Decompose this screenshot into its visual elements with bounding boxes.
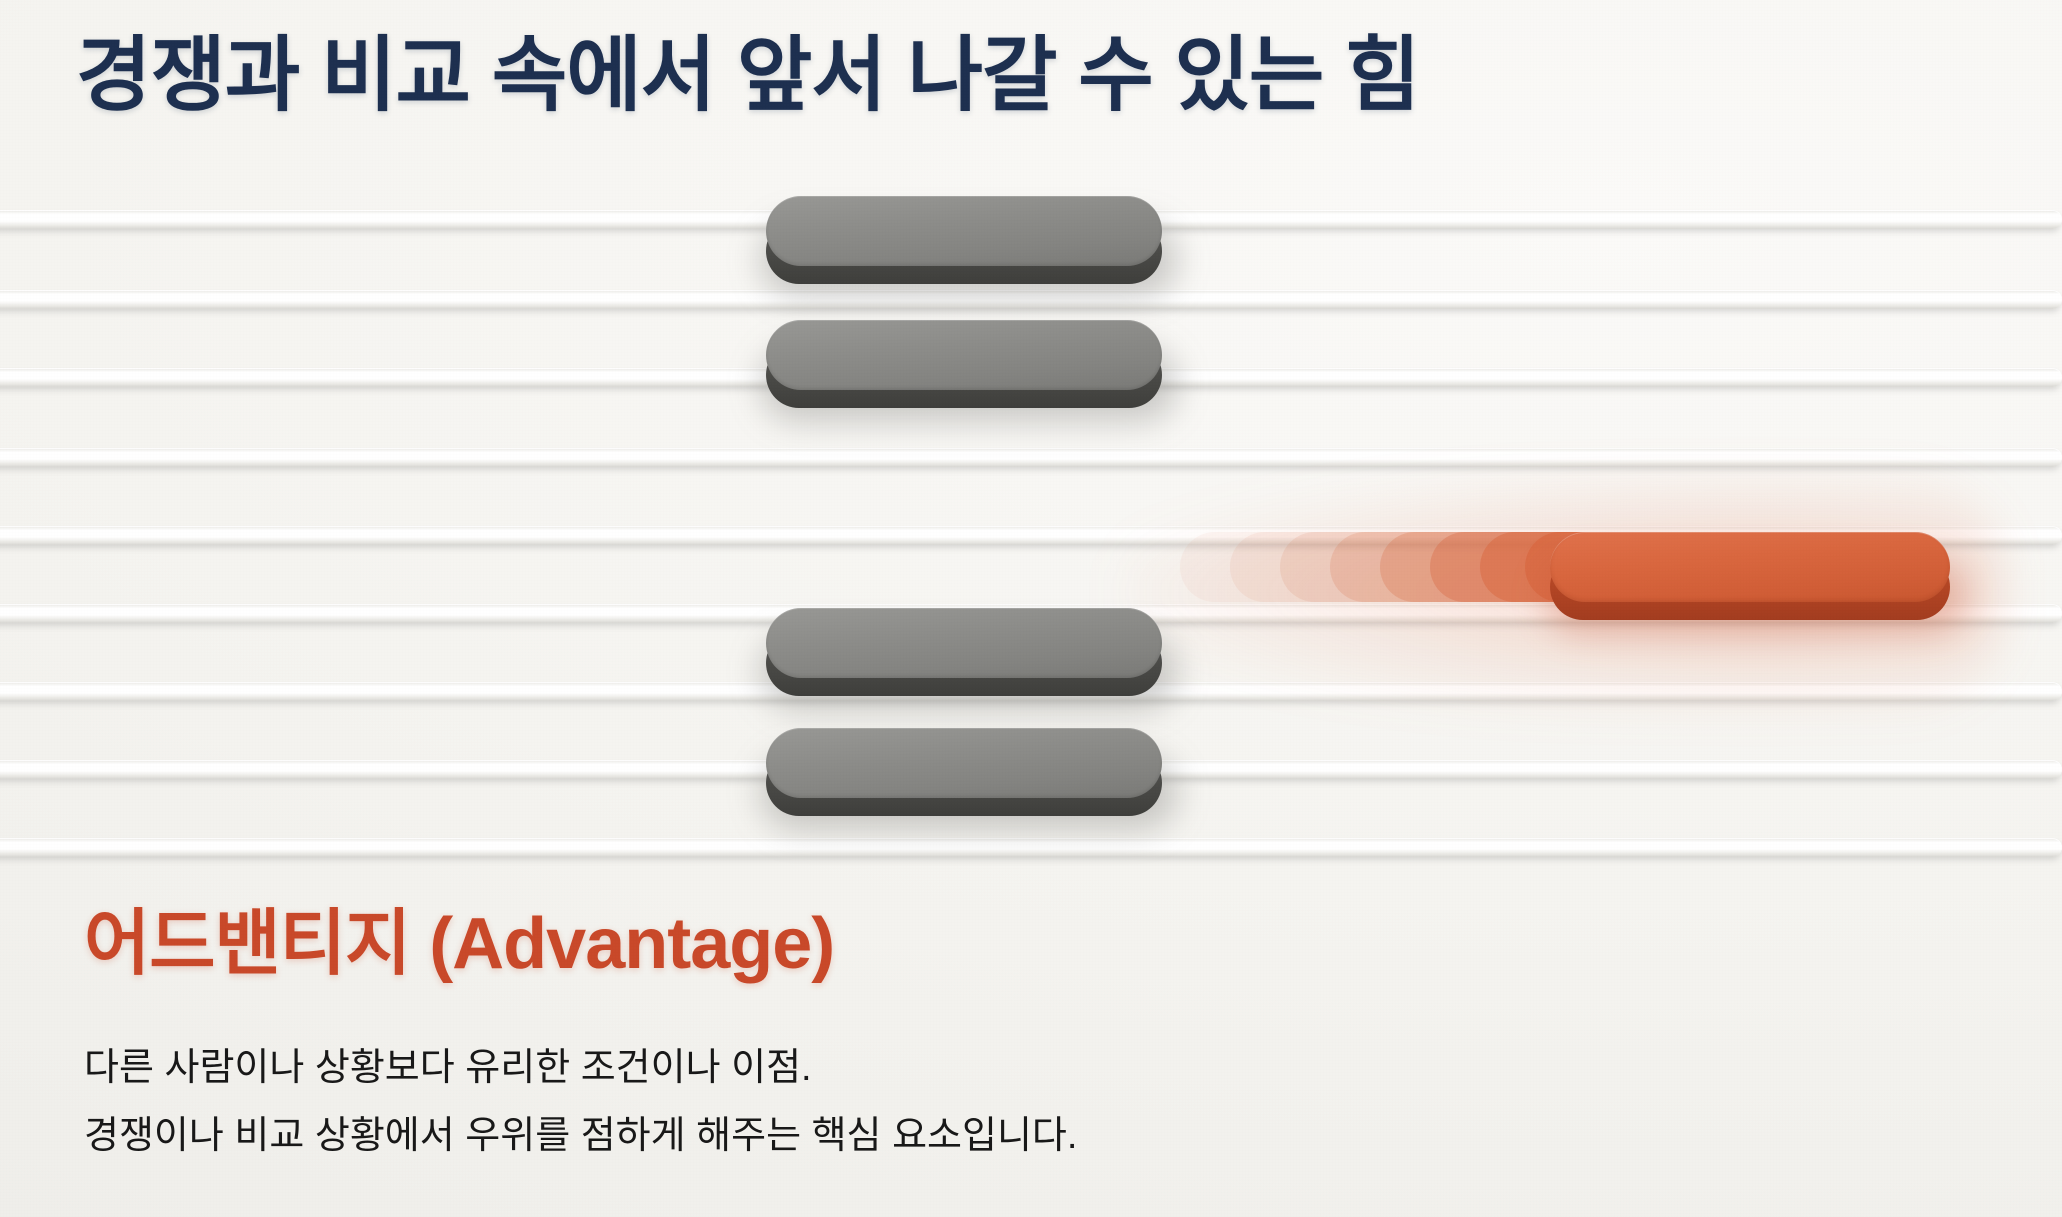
pill-top-face bbox=[766, 608, 1162, 678]
pill-top-face bbox=[766, 196, 1162, 266]
track-rail bbox=[0, 838, 2062, 857]
track-rail bbox=[0, 448, 2062, 467]
pill-top-face bbox=[766, 320, 1162, 390]
pill-competitor-2[interactable] bbox=[766, 320, 1162, 390]
pill-competitor-4[interactable] bbox=[766, 728, 1162, 798]
pill-advantage-leader[interactable] bbox=[1550, 532, 1950, 602]
page-title: 경쟁과 비교 속에서 앞서 나갈 수 있는 힘 bbox=[76, 8, 1420, 127]
pill-top-face bbox=[1550, 532, 1950, 602]
term-heading: 어드밴티지 (Advantage) bbox=[84, 884, 834, 989]
pill-competitor-3[interactable] bbox=[766, 608, 1162, 678]
slide-canvas: 경쟁과 비교 속에서 앞서 나갈 수 있는 힘 어드밴티지 (Advantage… bbox=[0, 0, 2062, 1217]
pill-top-face bbox=[766, 728, 1162, 798]
illustration-stage bbox=[0, 160, 2062, 860]
description-line-1: 다른 사람이나 상황보다 유리한 조건이나 이점. bbox=[84, 1036, 812, 1091]
description-line-2: 경쟁이나 비교 상황에서 우위를 점하게 해주는 핵심 요소입니다. bbox=[84, 1104, 1077, 1159]
pill-competitor-1[interactable] bbox=[766, 196, 1162, 266]
